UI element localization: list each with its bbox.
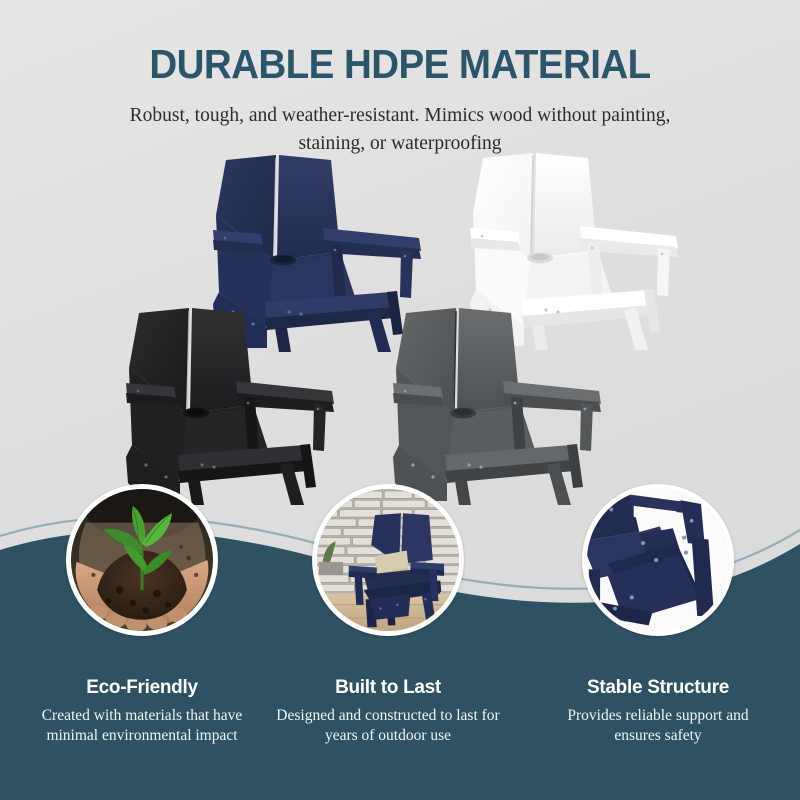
feature-title: Built to Last [273,677,503,699]
feature-list: Eco-Friendly Created with materials that… [0,0,800,800]
infographic-canvas: DURABLE HDPE MATERIAL Robust, tough, and… [0,0,800,800]
feature-description: Provides reliable support and ensures sa… [543,706,773,747]
feature-title: Eco-Friendly [27,677,257,699]
feature-description: Created with materials that have minimal… [27,706,257,747]
feature-title: Stable Structure [543,677,773,699]
feature-description: Designed and constructed to last for yea… [273,706,503,747]
feature-eco-friendly: Eco-Friendly Created with materials that… [27,677,257,747]
feature-built-to-last: Built to Last Designed and constructed t… [273,677,503,747]
feature-stable-structure: Stable Structure Provides reliable suppo… [543,677,773,747]
